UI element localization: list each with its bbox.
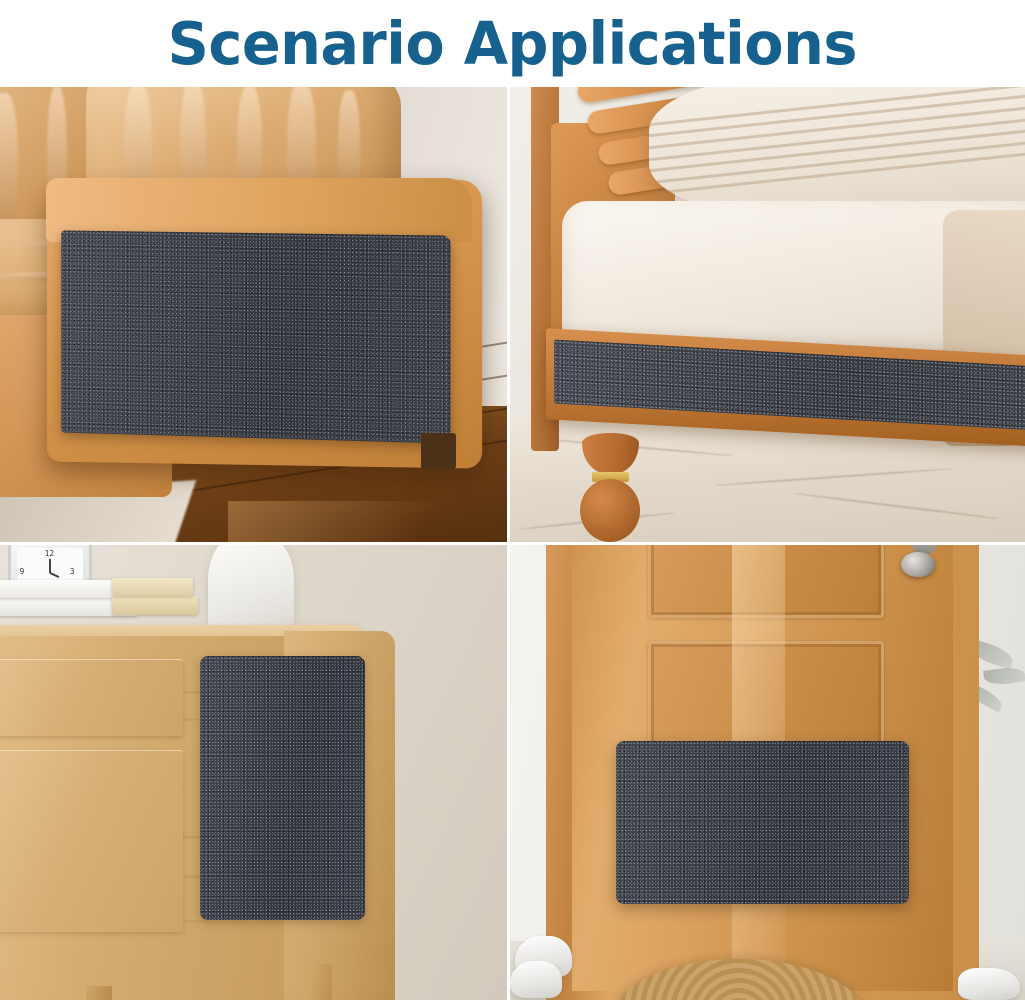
scenario-panel-compartment[interactable]: 12 9 6 3 xyxy=(0,545,510,1000)
door-scene xyxy=(510,545,1025,1000)
scratch-mat-sofa xyxy=(61,230,451,443)
scenario-panel-couch[interactable]: couch xyxy=(510,87,1025,545)
book-cream-bottom xyxy=(112,596,198,615)
bed-turned-leg xyxy=(577,433,644,542)
sofa-scene xyxy=(0,87,507,542)
nightstand-drawer-top xyxy=(0,659,183,736)
scenario-grid: sofas xyxy=(0,87,1025,1000)
door-lock-icon[interactable] xyxy=(901,552,934,577)
table-lamp-base xyxy=(208,545,294,631)
nightstand-scene: 12 9 6 3 xyxy=(0,545,507,1000)
clock-number-9: 9 xyxy=(20,567,25,576)
clock-number-12: 12 xyxy=(45,549,55,558)
book-cream-top xyxy=(112,578,193,596)
bed-pillow xyxy=(649,87,1025,219)
nightstand-drawer-bottom xyxy=(0,750,183,932)
scratch-mat-nightstand xyxy=(200,656,365,920)
nightstand-leg-right xyxy=(309,964,332,1000)
bed-scene xyxy=(510,87,1025,542)
scratch-mat-door xyxy=(616,741,910,905)
shoe-right xyxy=(510,961,562,997)
scenario-panel-bedroom-door[interactable]: bedroom door xyxy=(510,545,1025,1000)
product-infographic: Scenario Applications xyxy=(0,0,1025,1000)
scenario-panel-sofas[interactable]: sofas xyxy=(0,87,510,545)
shoe-far-right xyxy=(958,968,1020,1000)
title-bar: Scenario Applications xyxy=(0,0,1025,87)
page-title: Scenario Applications xyxy=(168,14,857,73)
clock-number-3: 3 xyxy=(70,567,75,576)
nightstand-leg-left xyxy=(86,986,111,1000)
sofa-foot xyxy=(421,433,456,469)
